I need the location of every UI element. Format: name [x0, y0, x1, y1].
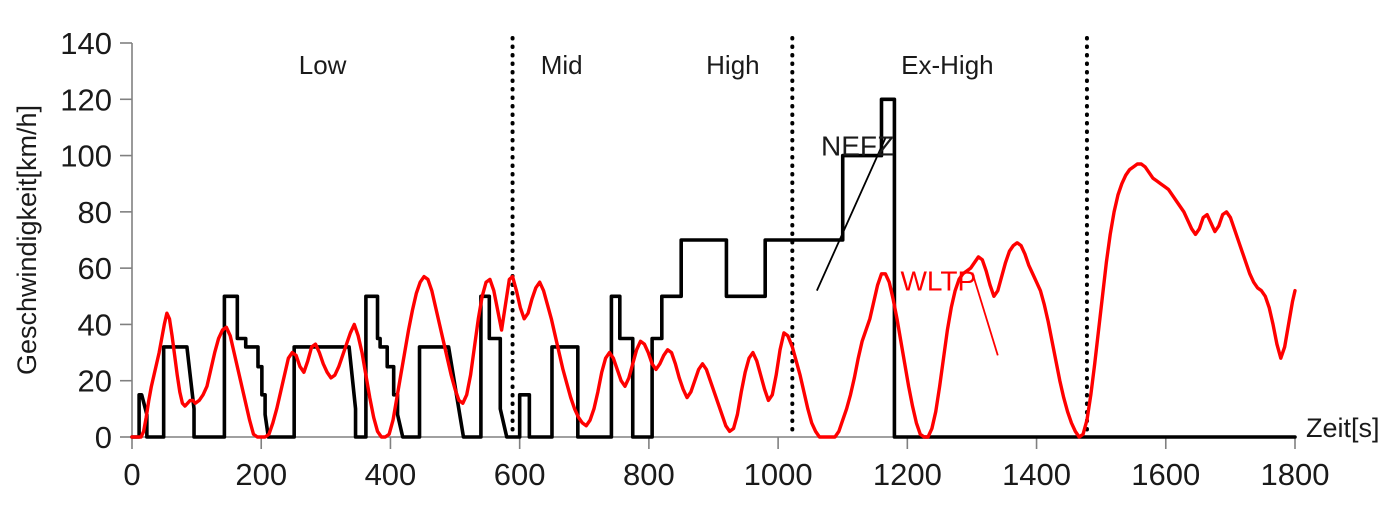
y-axis-tick-label: 0: [95, 420, 112, 455]
series-label-nefz: NEFZ: [821, 131, 894, 162]
phase-label-high: High: [706, 50, 759, 80]
x-axis-tick-label: 1400: [1002, 457, 1071, 492]
x-axis-title: Zeit[s]: [1306, 413, 1380, 443]
phase-label-exhigh: Ex-High: [901, 50, 993, 80]
y-axis-title: Geschwindigkeit[km/h]: [12, 105, 42, 375]
y-axis-tick-label: 140: [60, 26, 112, 61]
x-axis-tick-label: 1200: [873, 457, 942, 492]
x-axis-tick-label: 200: [235, 457, 287, 492]
x-axis-tick-label: 600: [494, 457, 546, 492]
y-axis-tick-label: 60: [78, 251, 112, 286]
x-axis-tick-label: 0: [123, 457, 140, 492]
chart-container: 020406080100120140 020040060080010001200…: [0, 0, 1391, 510]
y-axis-tick-label: 80: [78, 195, 112, 230]
y-axis-tick-label: 40: [78, 307, 112, 342]
y-axis-tick-label: 100: [60, 139, 112, 174]
y-axis-tick-label: 120: [60, 82, 112, 117]
plot-background: [0, 0, 1391, 510]
y-axis-tick-label: 20: [78, 364, 112, 399]
x-axis-tick-label: 400: [365, 457, 417, 492]
x-axis-tick-label: 800: [623, 457, 675, 492]
x-axis-title-group: Zeit[s]: [1306, 413, 1380, 443]
x-axis-tick-label: 1800: [1261, 457, 1330, 492]
speed-profile-chart: 020406080100120140 020040060080010001200…: [0, 0, 1391, 510]
x-axis-tick-label: 1600: [1131, 457, 1200, 492]
y-axis-title-group: Geschwindigkeit[km/h]: [12, 105, 42, 375]
phase-label-mid: Mid: [541, 50, 583, 80]
x-axis-tick-label: 1000: [744, 457, 813, 492]
series-label-wltp: WLTP: [900, 266, 976, 297]
phase-label-low: Low: [299, 50, 347, 80]
